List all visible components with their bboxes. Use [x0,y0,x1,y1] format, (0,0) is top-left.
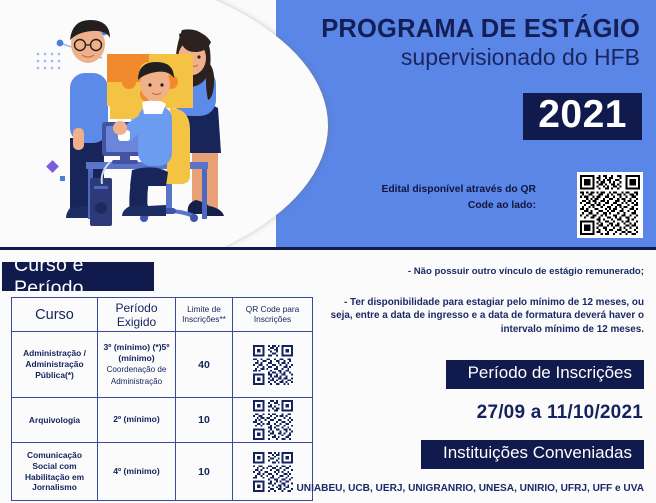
periodo-inscricoes-banner: Período de Inscrições [446,360,644,389]
qr-code-icon[interactable] [253,345,293,385]
hero-title-line1: PROGRAMA DE ESTÁGIO [310,16,640,43]
row-0-periodo-main: 3º (mínimo) (*)5º (mínimo) [104,342,170,363]
row-0-periodo-sub: Coordenação de Administração [107,365,167,386]
row-2-limite: 10 [176,443,233,501]
hero-title-block: PROGRAMA DE ESTÁGIO supervisionado do HF… [310,16,640,70]
col-header-limite: Limite de Inscrições** [176,298,233,332]
col-header-curso: Curso [12,298,98,332]
col-header-qr-line1: QR Code para [246,304,300,314]
team-collaboration-illustration [24,10,276,238]
table-row: Arquivologia 2º (mínimo) 10 [12,398,313,443]
hero-year-badge: 2021 [523,93,642,140]
requirement-item-1: - Não possuir outro vínculo de estágio r… [344,266,644,279]
qr-code-icon[interactable] [577,172,643,238]
col-header-limite-line2: Inscrições** [182,314,226,324]
table-header-row: Curso Período Exigido Limite de Inscriçõ… [12,298,313,332]
col-header-qr-line2: Inscrições [254,314,291,324]
row-2-curso: Comunicação Social com Habilitação em Jo… [12,443,98,501]
poster-root: PROGRAMA DE ESTÁGIO supervisionado do HF… [0,0,656,503]
inscricoes-dates: 27/09 a 11/10/2021 [477,402,643,424]
row-1-curso: Arquivologia [12,398,98,443]
edital-text: Edital disponível através do QR Code ao … [361,182,536,214]
hero-section: PROGRAMA DE ESTÁGIO supervisionado do HF… [0,0,656,250]
row-2-periodo: 4º (mínimo) [98,443,176,501]
row-0-periodo: 3º (mínimo) (*)5º (mínimo) Coordenação d… [98,332,176,398]
col-header-periodo: Período Exigido [98,298,176,332]
row-0-limite: 40 [176,332,233,398]
row-0-qr-cell[interactable] [233,332,313,398]
curso-periodo-banner: Curso e Período [2,262,154,291]
col-header-qr: QR Code para Inscrições [233,298,313,332]
courses-table: Curso Período Exigido Limite de Inscriçõ… [11,297,313,501]
row-1-limite: 10 [176,398,233,443]
table-row: Administração / Administração Pública(*)… [12,332,313,398]
row-1-periodo: 2º (mínimo) [98,398,176,443]
qr-code-icon[interactable] [253,400,293,440]
hero-title-line2: supervisionado do HFB [310,44,640,70]
col-header-limite-line1: Limite de [187,304,221,314]
row-1-qr-cell[interactable] [233,398,313,443]
instituicoes-list: UNIABEU, UCB, UERJ, UNIGRANRIO, UNESA, U… [244,483,644,494]
dot-grid-decoration [37,53,61,70]
row-0-curso: Administração / Administração Pública(*) [12,332,98,398]
requirement-item-2: - Ter disponibilidade para estagiar pelo… [324,296,644,336]
hero-bottom-divider [0,247,656,250]
instituicoes-conveniadas-banner: Instituições Conveniadas [421,440,644,469]
